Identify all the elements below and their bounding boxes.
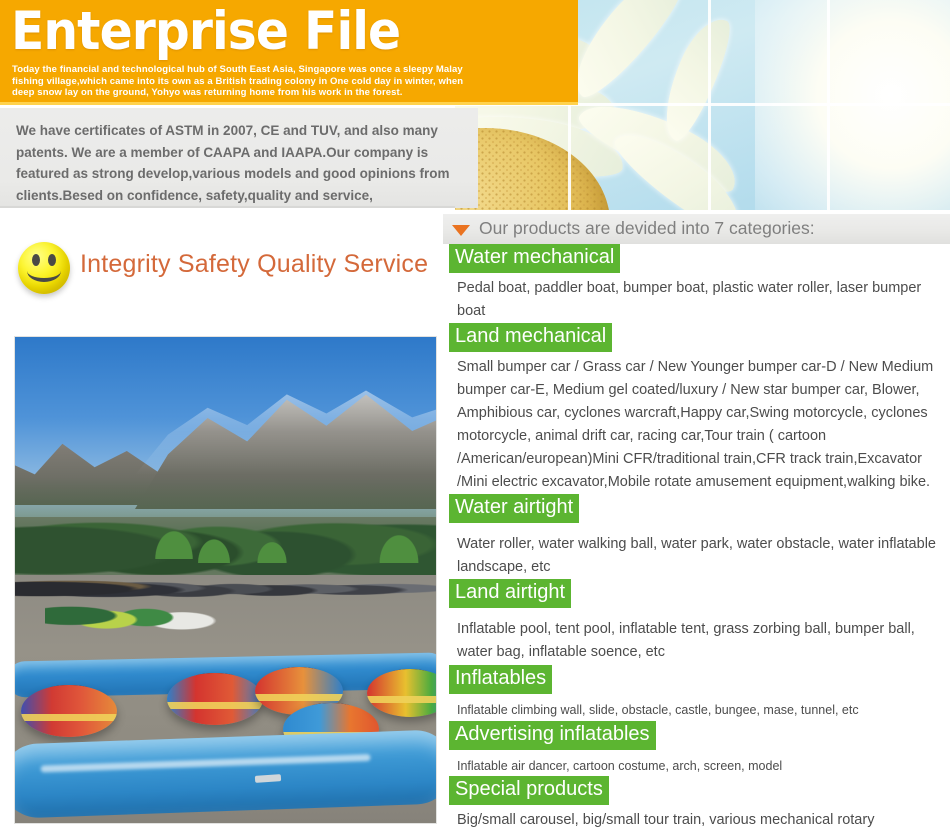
header-orange-band: Enterprise File Today the financial and … xyxy=(0,0,578,105)
category-body: Small bumper car / Grass car / New Young… xyxy=(449,352,947,494)
category-label[interactable]: Water mechanical xyxy=(449,244,620,273)
bumper-car-stripe xyxy=(255,694,343,701)
product-category: Land mechanicalSmall bumper car / Grass … xyxy=(443,323,950,494)
bumper-car-stripe xyxy=(21,714,117,721)
category-body: Pedal boat, paddler boat, bumper boat, p… xyxy=(449,273,947,323)
product-categories-heading: Our products are devided into 7 categori… xyxy=(479,218,815,239)
inflatable-bumper-car xyxy=(21,685,117,737)
product-category: Special productsBig/small carousel, big/… xyxy=(443,776,950,832)
category-label[interactable]: Advertising inflatables xyxy=(449,721,656,750)
product-categories-panel: Our products are devided into 7 categori… xyxy=(443,214,950,835)
inflatable-pool-front-wall xyxy=(14,729,437,819)
product-category: Advertising inflatablesInflatable air da… xyxy=(443,721,950,776)
photo-children-group xyxy=(45,585,225,641)
bumper-car-stripe xyxy=(367,696,437,703)
category-body: Inflatable air dancer, cartoon costume, … xyxy=(449,750,947,776)
bumper-car-stripe xyxy=(167,702,263,709)
product-category: Land airtightInflatable pool, tent pool,… xyxy=(443,579,950,664)
tagline-text: Integrity Safety Quality Service xyxy=(80,250,428,279)
category-label[interactable]: Land mechanical xyxy=(449,323,612,352)
triangle-down-icon xyxy=(452,225,470,236)
product-category: Water airtightWater roller, water walkin… xyxy=(443,494,950,579)
certificates-panel: We have certificates of ASTM in 2007, CE… xyxy=(0,108,478,208)
category-label[interactable]: Inflatables xyxy=(449,665,552,694)
category-body: Inflatable pool, tent pool, inflatable t… xyxy=(449,608,947,664)
photo-palm-tree xyxy=(371,523,427,563)
smiley-mouth xyxy=(27,260,61,282)
tagline-row: Integrity Safety Quality Service xyxy=(0,240,450,302)
product-category: Water mechanicalPedal boat, paddler boat… xyxy=(443,244,950,323)
photo-grid-line xyxy=(708,0,711,210)
photo-palm-tree xyxy=(191,529,237,563)
photo-grid-line xyxy=(827,0,830,210)
bumper-car-photo xyxy=(14,336,437,824)
page-header: Enterprise File Today the financial and … xyxy=(0,0,950,210)
category-label[interactable]: Special products xyxy=(449,776,609,805)
category-body: Water roller, water walking ball, water … xyxy=(449,523,947,579)
inflatable-bumper-car xyxy=(167,673,263,725)
category-body: Inflatable climbing wall, slide, obstacl… xyxy=(449,694,947,720)
category-body: Big/small carousel, big/small tour train… xyxy=(449,805,947,832)
bumper-car-body xyxy=(167,673,263,725)
product-categories-header: Our products are devided into 7 categori… xyxy=(443,214,950,244)
smiley-face-icon xyxy=(18,242,70,294)
certificates-text: We have certificates of ASTM in 2007, CE… xyxy=(16,120,462,206)
bumper-car-body xyxy=(21,685,117,737)
header-subtitle: Today the financial and technological hu… xyxy=(12,64,464,99)
product-category: InflatablesInflatable climbing wall, sli… xyxy=(443,665,950,720)
header-divider xyxy=(0,206,455,208)
category-list: Water mechanicalPedal boat, paddler boat… xyxy=(443,244,950,832)
category-label[interactable]: Water airtight xyxy=(449,494,579,523)
page-title: Enterprise File xyxy=(11,2,400,62)
category-label[interactable]: Land airtight xyxy=(449,579,571,608)
